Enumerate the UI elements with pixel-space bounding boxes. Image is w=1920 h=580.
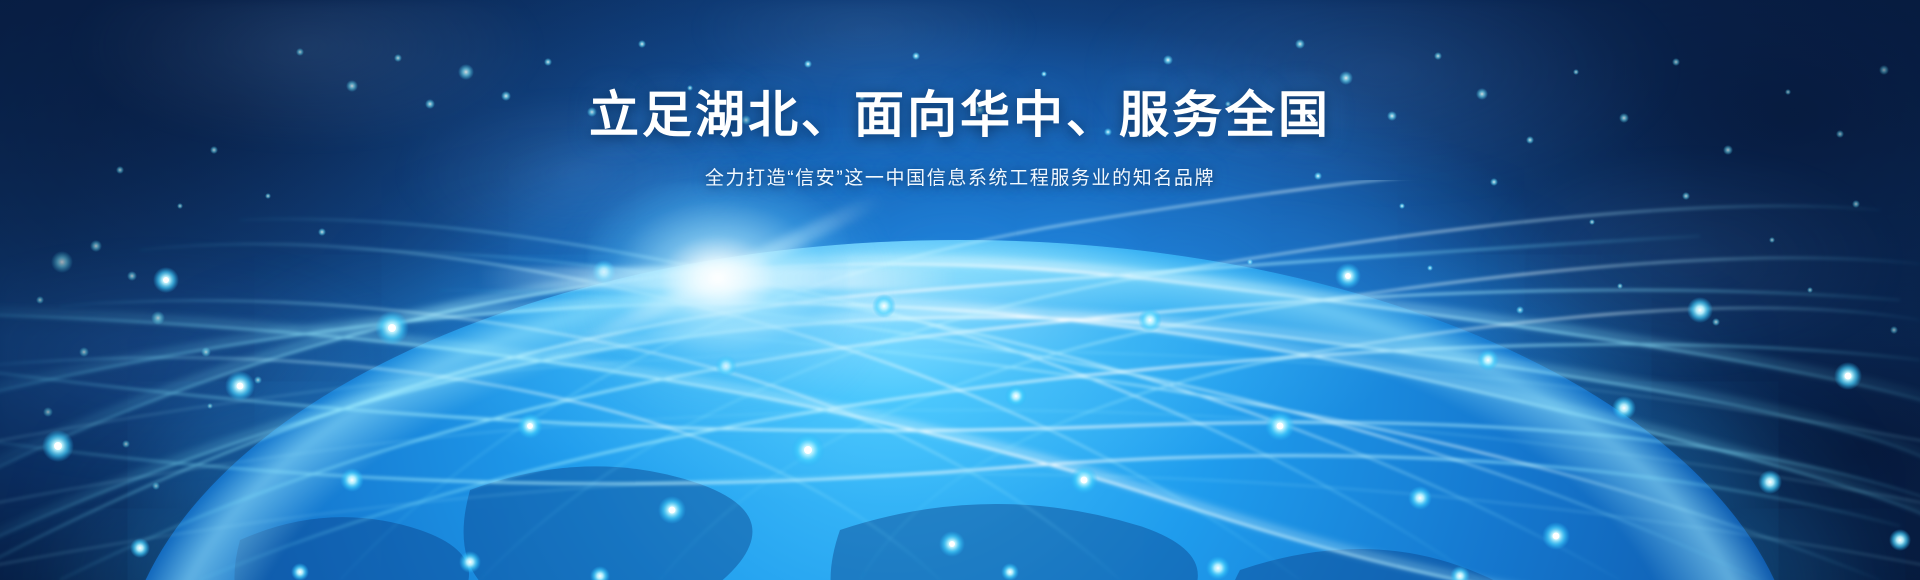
light-burst-icon <box>718 278 719 279</box>
banner-copy: 立足湖北、面向华中、服务全国 全力打造“信安”这一中国信息系统工程服务业的知名品… <box>0 0 1920 190</box>
network-graphic <box>0 180 1920 580</box>
banner-subline: 全力打造“信安”这一中国信息系统工程服务业的知名品牌 <box>0 145 1920 190</box>
hero-banner: 立足湖北、面向华中、服务全国 全力打造“信安”这一中国信息系统工程服务业的知名品… <box>0 0 1920 580</box>
banner-headline: 立足湖北、面向华中、服务全国 <box>0 0 1920 145</box>
